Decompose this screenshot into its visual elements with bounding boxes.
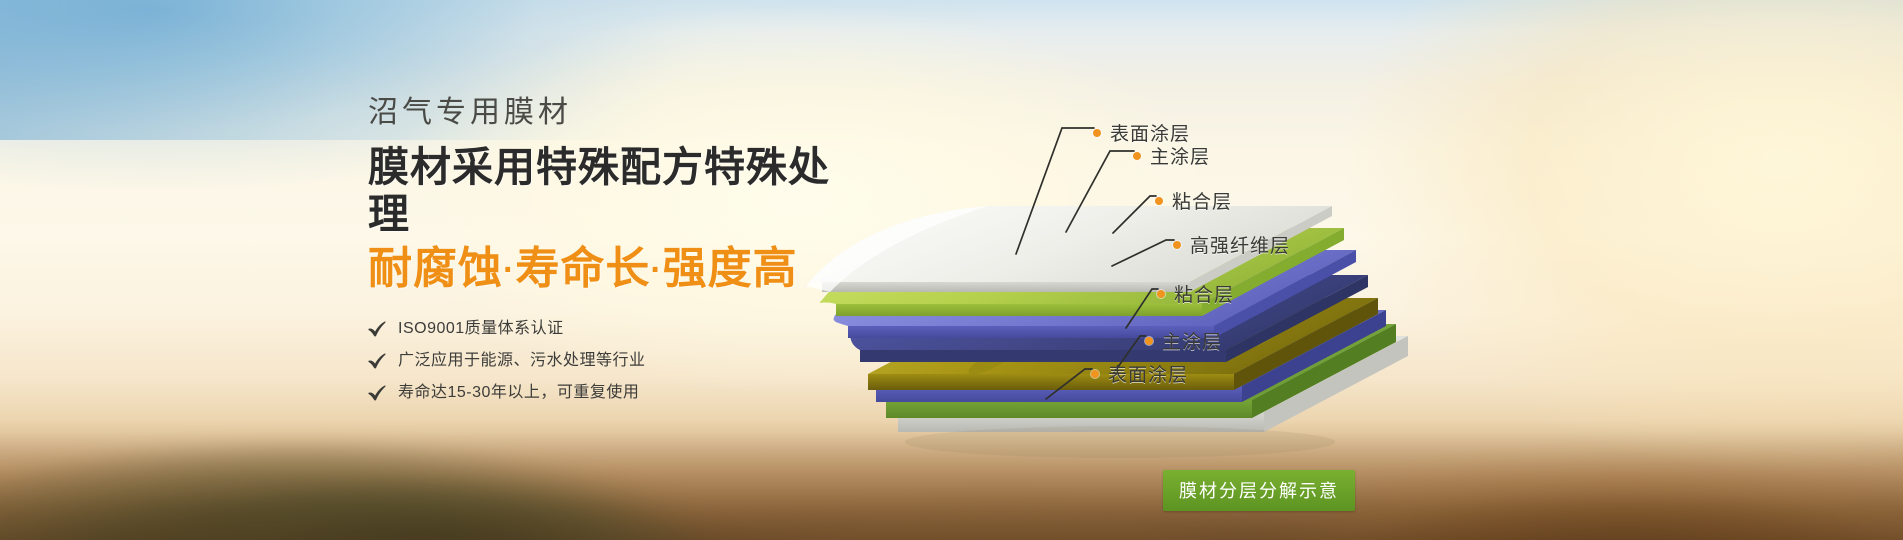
callout-dot-icon (1091, 370, 1099, 378)
callout-dot-icon (1157, 290, 1165, 298)
check-icon (368, 385, 386, 401)
check-icon (368, 353, 386, 369)
callout-label: 主涂层 (1150, 142, 1210, 169)
banner-headline: 膜材采用特殊配方特殊处理 (368, 144, 838, 238)
callout-label: 主涂层 (1162, 327, 1222, 354)
feature-item: 广泛应用于能源、污水处理等行业 (368, 353, 838, 369)
banner-subtitle: 沼气专用膜材 (368, 98, 838, 128)
callout-dot-icon (1133, 152, 1141, 160)
callout-adhesive-bottom: 粘合层 (1157, 280, 1234, 307)
callout-dot-icon (1145, 337, 1153, 345)
tagline-separator-2: · (650, 251, 662, 289)
callout-main-coating-top: 主涂层 (1133, 142, 1210, 169)
callout-label: 表面涂层 (1108, 360, 1188, 387)
callout-surface-coating-bottom: 表面涂层 (1091, 360, 1188, 387)
membrane-layer-diagram (790, 150, 1410, 480)
callout-label: 粘合层 (1174, 280, 1234, 307)
feature-label: 寿命达15-30年以上，可重复使用 (398, 385, 639, 401)
feature-item: ISO9001质量体系认证 (368, 321, 838, 337)
callout-dot-icon (1093, 129, 1101, 137)
feature-label: 广泛应用于能源、污水处理等行业 (398, 353, 646, 369)
callout-dot-icon (1155, 197, 1163, 205)
banner-tagline: 耐腐蚀·寿命长·强度高 (368, 244, 838, 295)
headline-block: 沼气专用膜材 膜材采用特殊配方特殊处理 耐腐蚀·寿命长·强度高 ISO9001质… (368, 98, 838, 417)
callout-adhesive-top: 粘合层 (1155, 187, 1232, 214)
check-icon (368, 321, 386, 337)
feature-item: 寿命达15-30年以上，可重复使用 (368, 385, 838, 401)
callout-dot-icon (1173, 241, 1181, 249)
callout-main-coating-bottom: 主涂层 (1145, 327, 1222, 354)
tagline-part-2: 寿命长 (515, 244, 650, 293)
promo-banner: 沼气专用膜材 膜材采用特殊配方特殊处理 耐腐蚀·寿命长·强度高 ISO9001质… (0, 0, 1903, 540)
tagline-part-3: 强度高 (663, 244, 798, 293)
tagline-part-1: 耐腐蚀 (368, 244, 503, 293)
diagram-caption-badge: 膜材分层分解示意 (1163, 470, 1355, 511)
feature-list: ISO9001质量体系认证 广泛应用于能源、污水处理等行业 寿命达15-30年以… (368, 321, 838, 401)
tagline-separator-1: · (503, 251, 515, 289)
callout-high-strength-fiber: 高强纤维层 (1173, 231, 1290, 258)
feature-label: ISO9001质量体系认证 (398, 321, 564, 337)
callout-label: 粘合层 (1172, 187, 1232, 214)
callout-label: 高强纤维层 (1190, 231, 1290, 258)
